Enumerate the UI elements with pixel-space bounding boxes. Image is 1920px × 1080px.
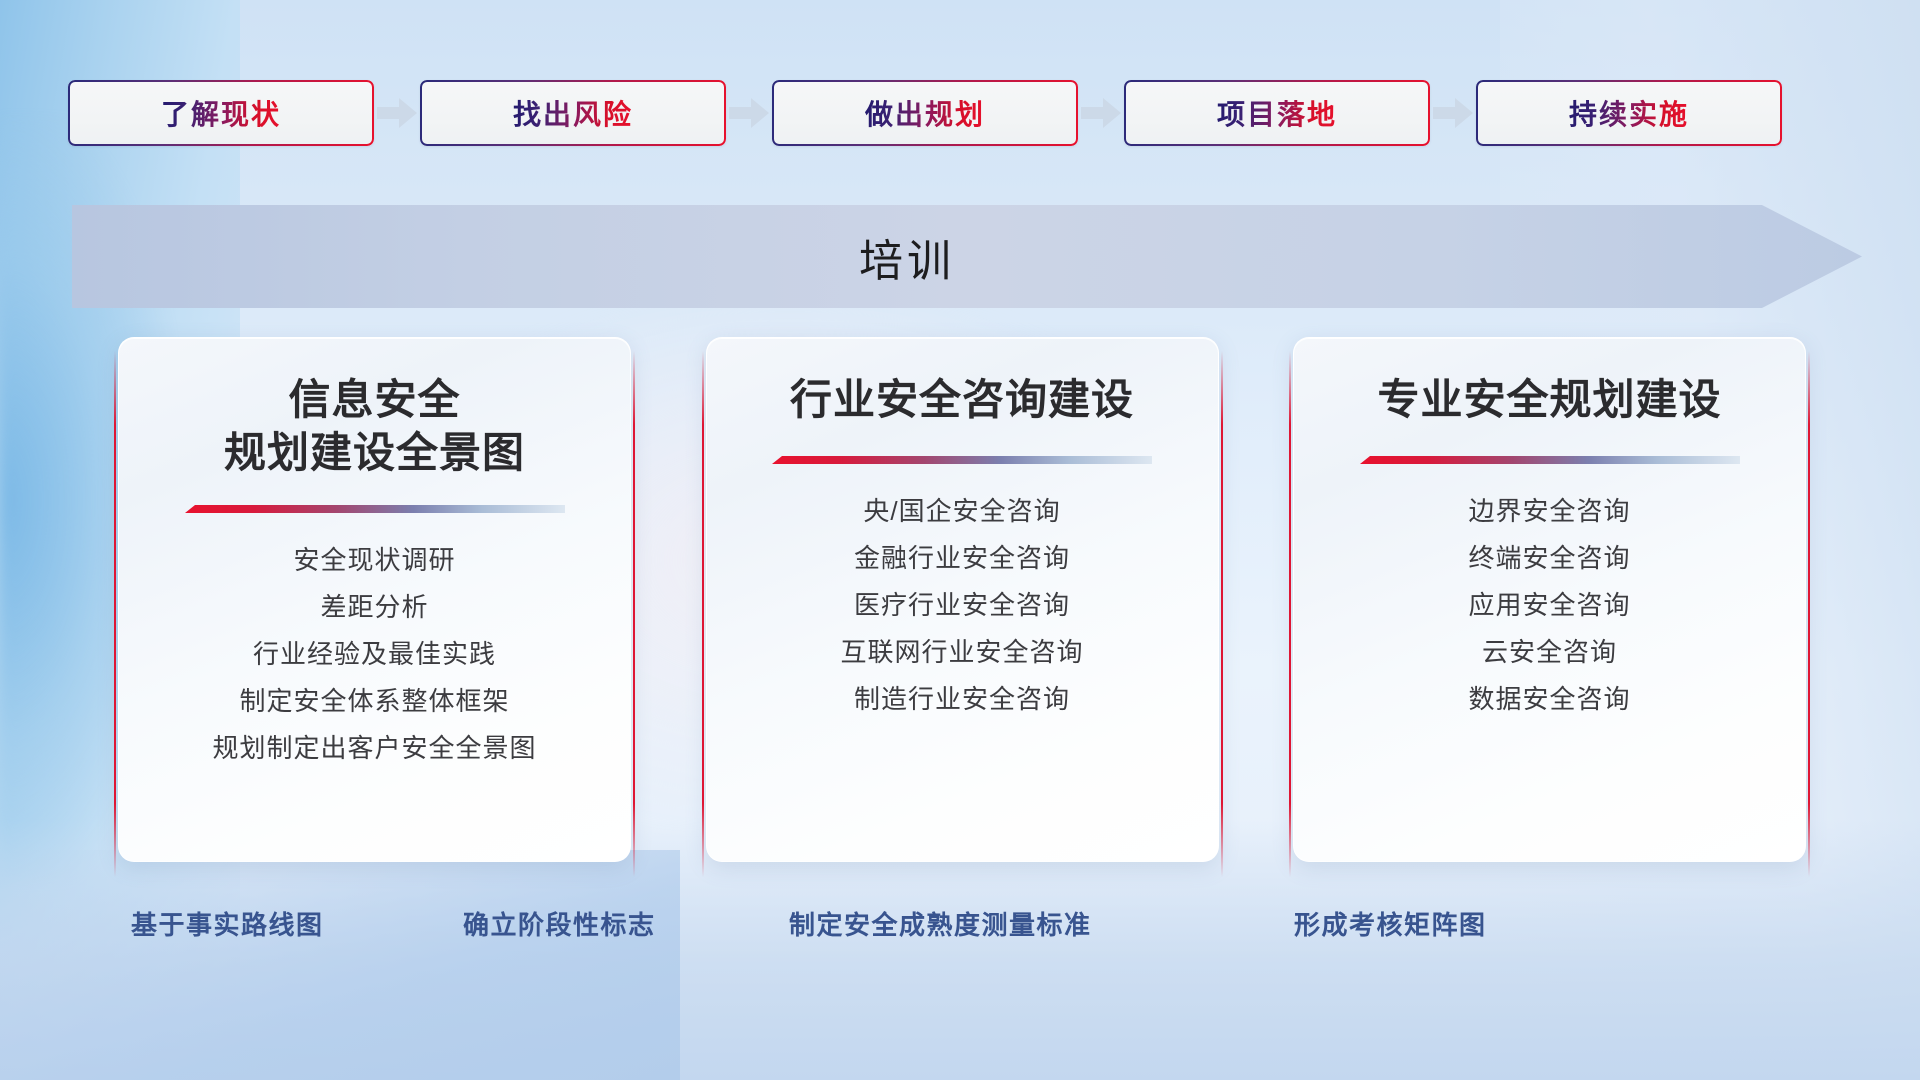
gradient-divider — [1360, 456, 1740, 467]
bottom-label-3: 制定安全成熟度测量标准 — [789, 905, 1092, 942]
card-body[interactable]: 专业安全规划建设边界安全咨询终端安全咨询应用安全咨询云安全咨询数据安全咨询 — [1293, 337, 1806, 862]
step-label: 做出规划 — [865, 93, 985, 133]
card-right-accent-line — [1221, 351, 1223, 877]
card-title: 行业安全咨询建设 — [790, 374, 1134, 430]
step-box-3[interactable]: 做出规划 — [772, 80, 1078, 146]
card-title-line: 专业安全规划建设 — [1377, 374, 1721, 425]
bottom-label-1: 基于事实路线图 — [131, 905, 324, 942]
card-item-list: 安全现状调研差距分析行业经验及最佳实践制定安全体系整体框架规划制定出客户安全全景… — [119, 546, 630, 763]
list-item: 边界安全咨询 — [1468, 497, 1630, 527]
banner-label: 培训 — [72, 205, 1862, 308]
list-item: 金融行业安全咨询 — [854, 544, 1070, 574]
list-item: 数据安全咨询 — [1468, 685, 1630, 715]
card-1: 信息安全规划建设全景图安全现状调研差距分析行业经验及最佳实践制定安全体系整体框架… — [112, 337, 637, 877]
card-right-accent-line — [1808, 351, 1810, 877]
card-title: 专业安全规划建设 — [1377, 374, 1721, 430]
arrow-right-icon — [1078, 80, 1124, 146]
card-item-list: 边界安全咨询终端安全咨询应用安全咨询云安全咨询数据安全咨询 — [1294, 497, 1805, 714]
card-left-accent-line — [702, 351, 704, 877]
gradient-divider — [772, 456, 1152, 467]
background-bottom-left-gradient — [0, 850, 680, 1080]
step-box-1[interactable]: 了解现状 — [68, 80, 374, 146]
card-3: 专业安全规划建设边界安全咨询终端安全咨询应用安全咨询云安全咨询数据安全咨询 — [1287, 337, 1812, 877]
list-item: 终端安全咨询 — [1468, 544, 1630, 574]
card-title-line: 信息安全 — [224, 374, 525, 427]
card-body[interactable]: 信息安全规划建设全景图安全现状调研差距分析行业经验及最佳实践制定安全体系整体框架… — [118, 337, 631, 862]
card-title-line: 行业安全咨询建设 — [790, 374, 1134, 425]
card-item-list: 央/国企安全咨询金融行业安全咨询医疗行业安全咨询互联网行业安全咨询制造行业安全咨… — [707, 497, 1218, 714]
list-item: 应用安全咨询 — [1468, 591, 1630, 621]
card-left-accent-line — [114, 351, 116, 877]
card-title: 信息安全规划建设全景图 — [224, 374, 525, 479]
card-row: 信息安全规划建设全景图安全现状调研差距分析行业经验及最佳实践制定安全体系整体框架… — [112, 337, 1812, 877]
list-item: 云安全咨询 — [1482, 638, 1617, 668]
arrow-right-icon — [1430, 80, 1476, 146]
process-step-row: 了解现状找出风险做出规划项目落地持续实施 — [68, 78, 1858, 148]
gradient-divider — [185, 505, 565, 516]
list-item: 差距分析 — [320, 593, 428, 623]
list-item: 医疗行业安全咨询 — [854, 591, 1070, 621]
card-title-line: 规划建设全景图 — [224, 427, 525, 480]
step-label: 项目落地 — [1217, 93, 1337, 133]
card-right-accent-line — [633, 351, 635, 877]
step-label: 了解现状 — [161, 93, 281, 133]
arrow-right-icon — [374, 80, 420, 146]
list-item: 互联网行业安全咨询 — [840, 638, 1083, 668]
step-label: 持续实施 — [1569, 93, 1689, 133]
bottom-label-4: 形成考核矩阵图 — [1294, 905, 1487, 942]
arrow-right-icon — [726, 80, 772, 146]
step-label: 找出风险 — [513, 93, 633, 133]
list-item: 规划制定出客户安全全景图 — [212, 734, 536, 764]
list-item: 制定安全体系整体框架 — [239, 687, 509, 717]
bottom-label-row: 基于事实路线图确立阶段性标志制定安全成熟度测量标准形成考核矩阵图 — [0, 905, 1920, 965]
card-2: 行业安全咨询建设央/国企安全咨询金融行业安全咨询医疗行业安全咨询互联网行业安全咨… — [700, 337, 1225, 877]
training-banner: 培训 — [72, 205, 1862, 308]
list-item: 央/国企安全咨询 — [863, 497, 1060, 527]
card-body[interactable]: 行业安全咨询建设央/国企安全咨询金融行业安全咨询医疗行业安全咨询互联网行业安全咨… — [706, 337, 1219, 862]
step-box-5[interactable]: 持续实施 — [1476, 80, 1782, 146]
list-item: 制造行业安全咨询 — [854, 685, 1070, 715]
step-box-2[interactable]: 找出风险 — [420, 80, 726, 146]
list-item: 安全现状调研 — [293, 546, 455, 576]
list-item: 行业经验及最佳实践 — [253, 640, 496, 670]
bottom-label-2: 确立阶段性标志 — [463, 905, 656, 942]
card-left-accent-line — [1289, 351, 1291, 877]
step-box-4[interactable]: 项目落地 — [1124, 80, 1430, 146]
